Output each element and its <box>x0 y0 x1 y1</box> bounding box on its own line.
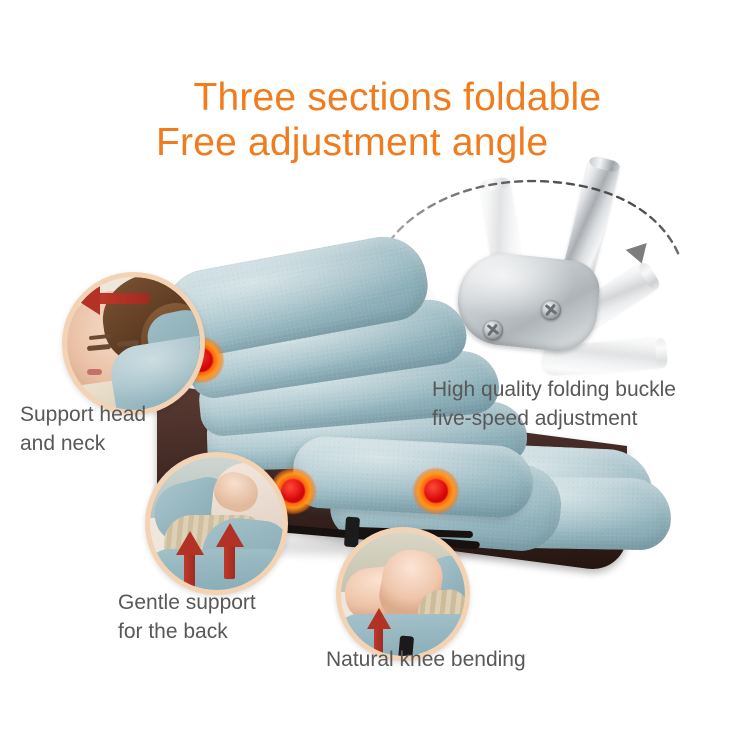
feature-circle-knee-bending <box>336 527 470 661</box>
feature-circle-back-support <box>145 452 288 595</box>
arrow-shaft <box>184 553 195 587</box>
arrow-shaft <box>97 293 149 304</box>
person-lips <box>87 369 102 375</box>
chair-arm-cushion <box>291 435 534 519</box>
arrow-head <box>176 531 204 555</box>
arrow-head <box>216 523 244 547</box>
caption-gentle-back-support: Gentle support for the back <box>118 588 256 646</box>
headline-line-2: Free adjustment angle <box>156 120 710 165</box>
tube-cap <box>480 176 511 191</box>
feature-circle-back-image <box>150 457 283 590</box>
infographic-canvas: Three sections foldableFree adjustment a… <box>0 0 750 750</box>
arrow-head <box>75 283 100 315</box>
seat-pad <box>150 549 283 590</box>
feature-circle-knee-image <box>341 532 465 656</box>
tube-cap <box>655 338 668 369</box>
hotspot-knee-hinge-icon <box>413 468 459 514</box>
caption-natural-knee-bending: Natural knee bending <box>326 645 526 674</box>
arrow-head <box>367 608 391 629</box>
headline-line-1: Three sections foldable <box>193 76 601 119</box>
feature-circle-head-and-neck <box>62 272 205 415</box>
caption-head-and-neck: Support head and neck <box>20 400 146 458</box>
feature-circle-head-image <box>67 277 200 410</box>
arrow-shaft <box>224 545 235 579</box>
caption-folding-buckle: High quality folding buckle five-speed a… <box>432 375 676 433</box>
